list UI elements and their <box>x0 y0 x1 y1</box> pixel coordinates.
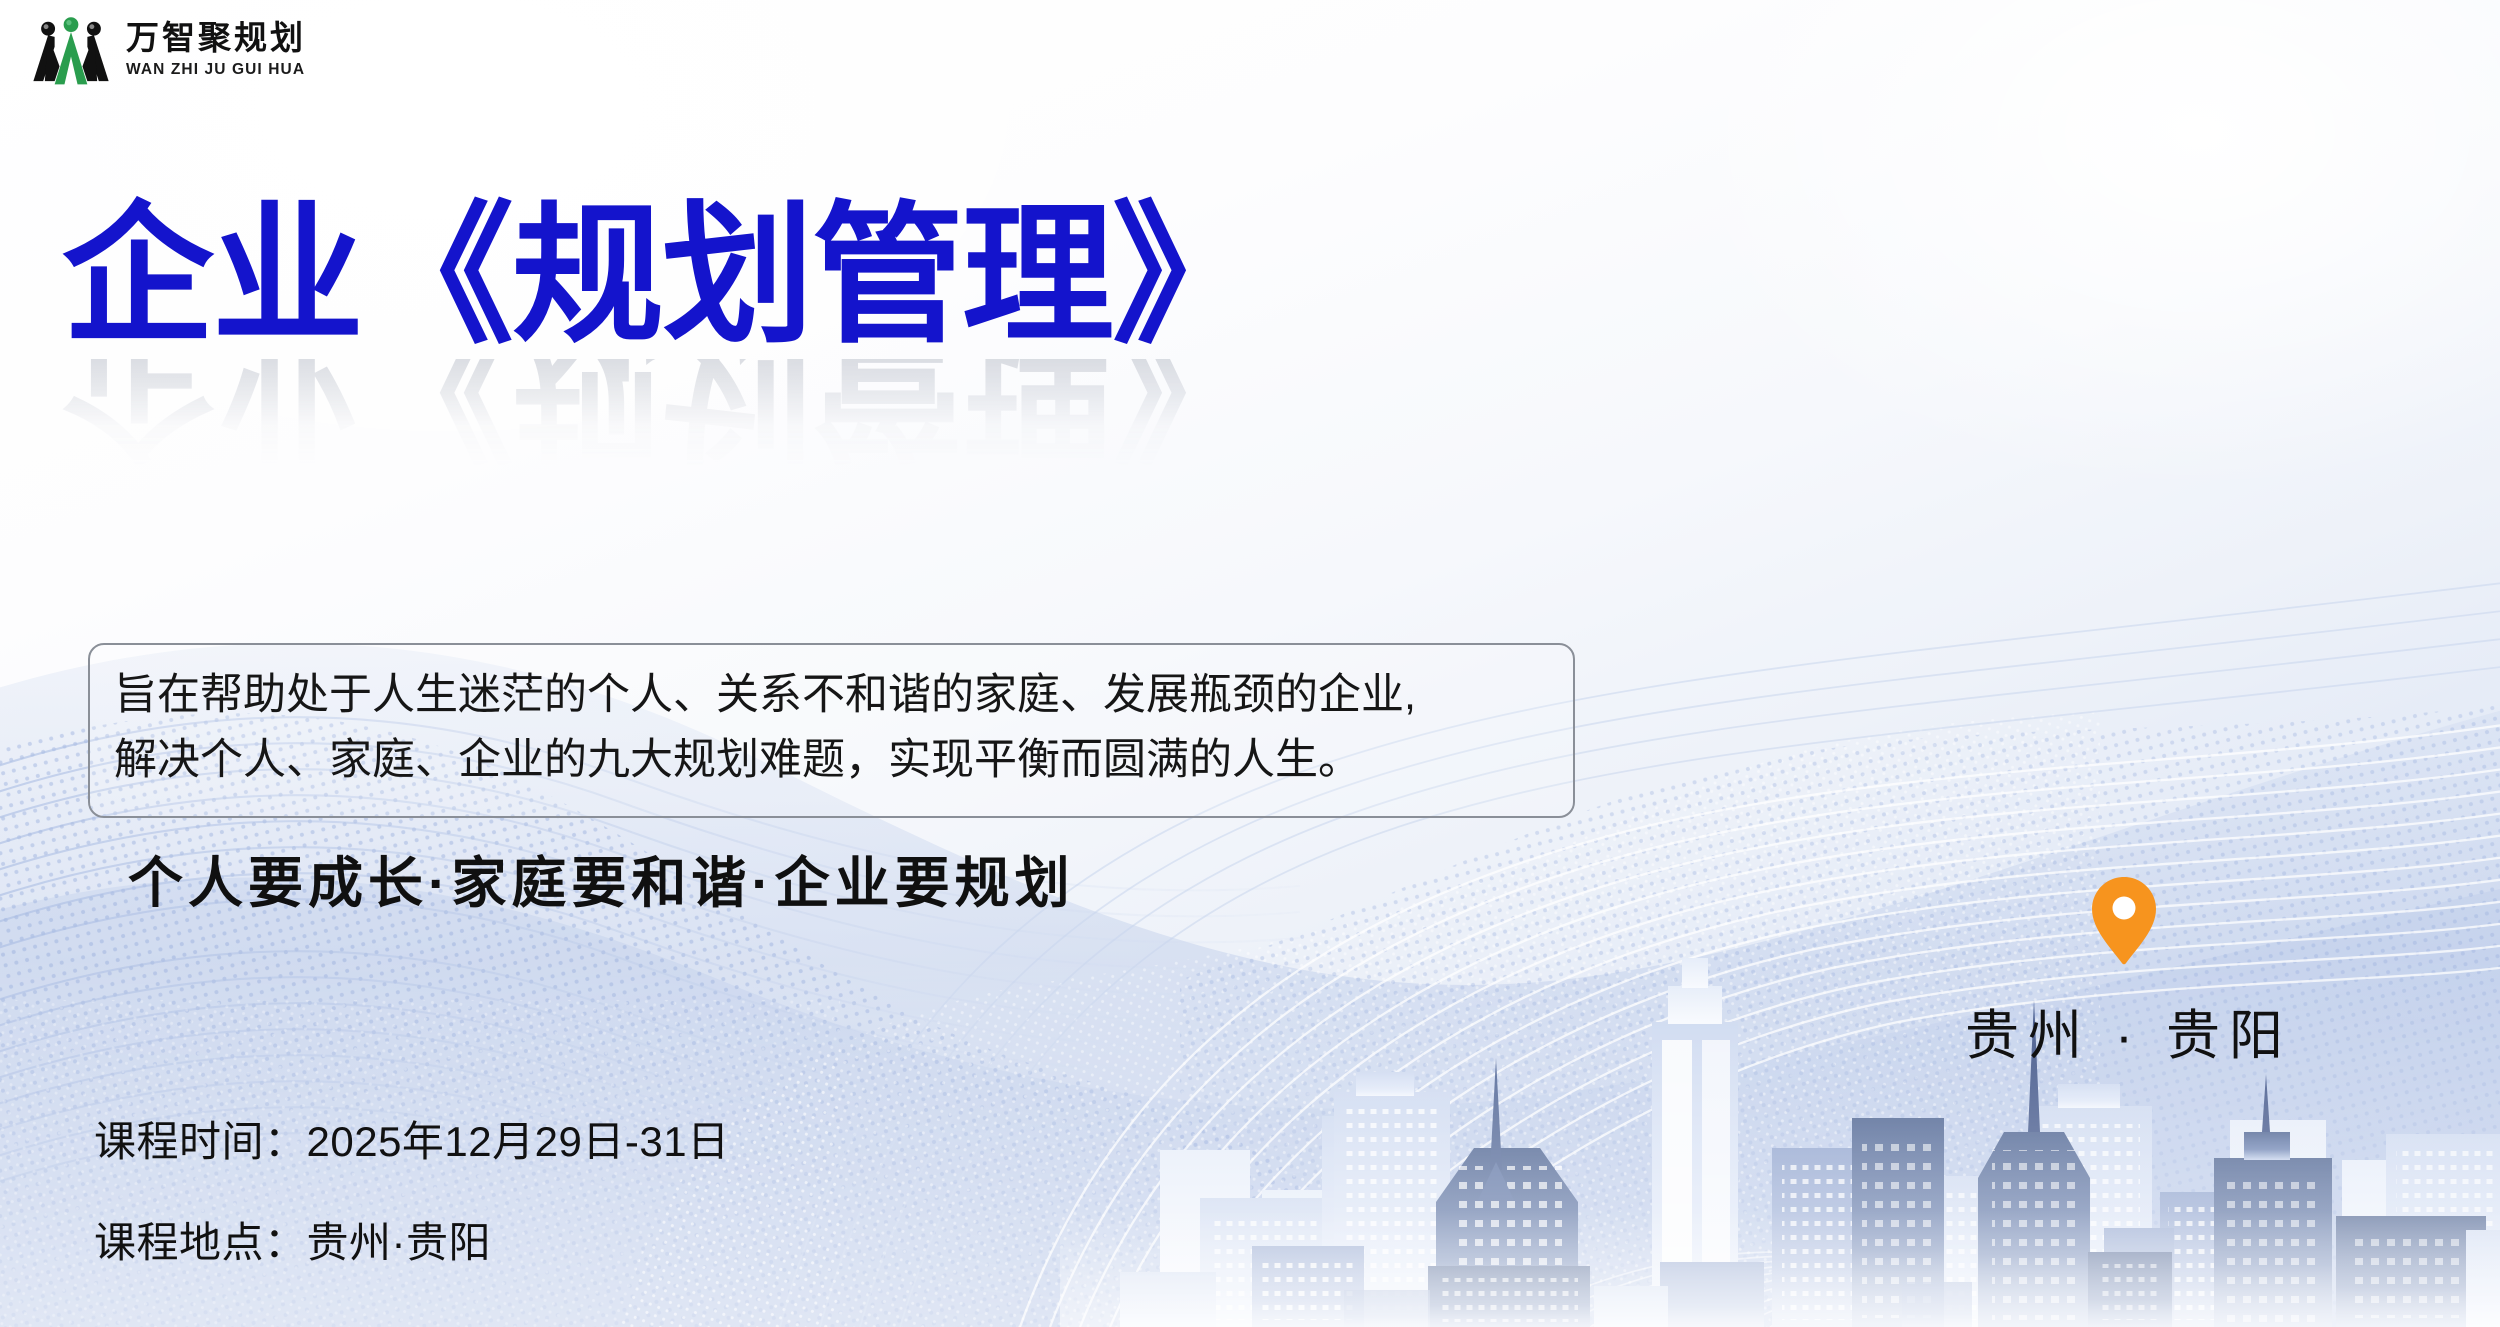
poster-canvas: 万智聚规划 WAN ZHI JU GUI HUA 企业《规划管理》 企业《规划管… <box>0 0 2500 1327</box>
page-title: 企业《规划管理》 <box>62 196 1262 357</box>
course-info-block: 课程时间：2025年12月29日-31日 课程地点：贵州·贵阳 <box>94 1108 730 1270</box>
slogan-text: 个人要成长·家庭要和谐·企业要规划 <box>128 838 1075 918</box>
location-badge: 贵州 · 贵阳 <box>1956 875 2292 1070</box>
brand-logo[interactable]: 万智聚规划 WAN ZHI JU GUI HUA <box>30 14 306 86</box>
description-line-2: 解决个人、家庭、企业的九大规划难题，实现平衡而圆满的人生。 <box>114 728 1551 793</box>
location-city-label: 贵州 · 贵阳 <box>1956 991 2292 1070</box>
description-box: 旨在帮助处于人生迷茫的个人、关系不和谐的家庭、发展瓶颈的企业, 解决个人、家庭、… <box>88 643 1575 818</box>
brand-name-en: WAN ZHI JU GUI HUA <box>126 62 306 78</box>
brand-logo-text: 万智聚规划 WAN ZHI JU GUI HUA <box>126 23 306 78</box>
course-time-row: 课程时间：2025年12月29日-31日 <box>94 1108 730 1169</box>
three-people-logo-icon <box>30 14 112 86</box>
hero-title-block: 企业《规划管理》 企业《规划管理》 <box>62 196 1262 467</box>
description-line-1: 旨在帮助处于人生迷茫的个人、关系不和谐的家庭、发展瓶颈的企业, <box>114 663 1551 728</box>
course-place-row: 课程地点：贵州·贵阳 <box>94 1209 730 1270</box>
map-pin-icon <box>2088 875 2160 967</box>
page-title-reflection: 企业《规划管理》 <box>62 359 1262 467</box>
brand-name-cn: 万智聚规划 <box>126 23 306 56</box>
